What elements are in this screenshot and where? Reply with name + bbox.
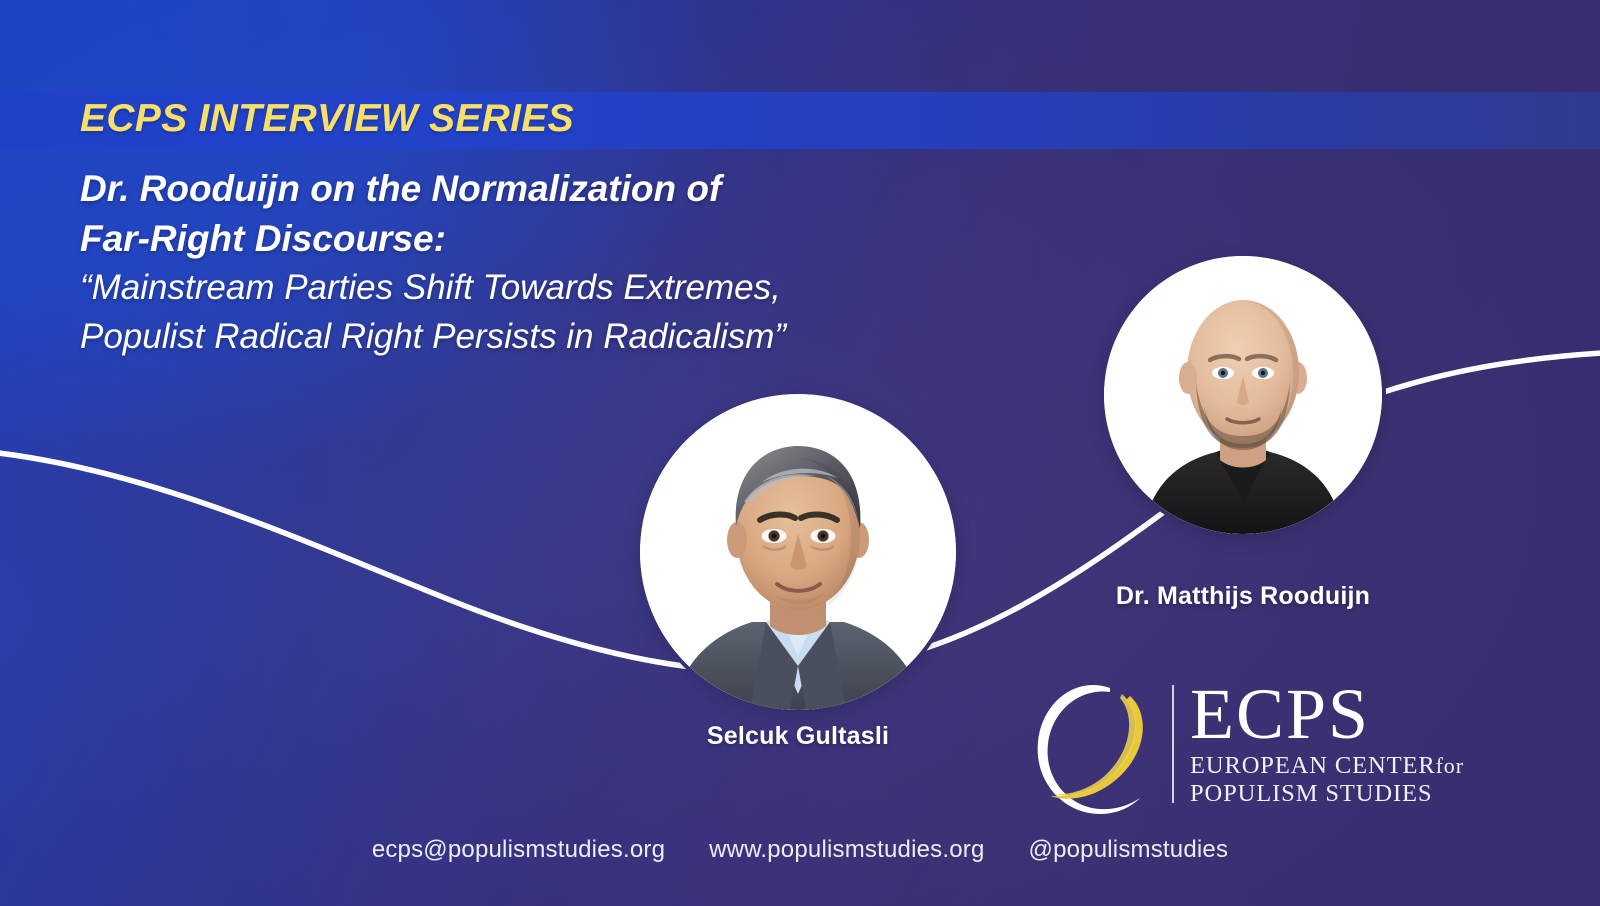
- headline-block: Dr. Rooduijn on the Normalization of Far…: [80, 164, 960, 264]
- headline-line-1: Dr. Rooduijn on the Normalization of: [80, 164, 960, 214]
- subheadline-line-2: Populist Radical Right Persists in Radic…: [80, 312, 1030, 361]
- ecps-interview-poster: ECPS INTERVIEW SERIES Dr. Rooduijn on th…: [0, 0, 1600, 906]
- footer-social-handle[interactable]: @populismstudies: [1029, 836, 1229, 864]
- logo-tagline-line-1: EUROPEAN CENTERfor: [1190, 752, 1464, 779]
- headline-line-2: Far-Right Discourse:: [80, 214, 960, 264]
- logo-tagline: EUROPEAN CENTERfor POPULISM STUDIES: [1190, 752, 1464, 807]
- footer-email[interactable]: ecps@populismstudies.org: [372, 836, 665, 864]
- name-label-rooduijn: Dr. Matthijs Rooduijn: [1104, 582, 1382, 611]
- portrait-gultasli-illustration: [640, 394, 956, 710]
- portrait-rooduijn: [1104, 256, 1382, 534]
- subheadline-line-1: “Mainstream Parties Shift Towards Extrem…: [80, 263, 1030, 312]
- portrait-gultasli: [640, 394, 956, 710]
- logo-tagline-caps-1: EUROPEAN CENTER: [1190, 752, 1436, 779]
- footer-contact-row: ecps@populismstudies.org www.populismstu…: [0, 836, 1600, 864]
- portrait-rooduijn-illustration: [1104, 256, 1382, 534]
- logo-acronym: ECPS: [1190, 681, 1464, 749]
- ecps-logo: ECPS EUROPEAN CENTERfor POPULISM STUDIES: [1018, 663, 1518, 825]
- logo-text-block: ECPS EUROPEAN CENTERfor POPULISM STUDIES: [1190, 681, 1464, 808]
- logo-tagline-for: for: [1436, 753, 1464, 778]
- name-label-gultasli: Selcuk Gultasli: [640, 722, 956, 751]
- footer-website[interactable]: www.populismstudies.org: [709, 836, 984, 864]
- logo-divider: [1172, 685, 1174, 803]
- logo-tagline-line-2: POPULISM STUDIES: [1190, 780, 1464, 807]
- series-eyebrow-label: ECPS INTERVIEW SERIES: [80, 97, 574, 141]
- q-swoosh-logo-icon: [1018, 664, 1168, 824]
- subheadline-quote-block: “Mainstream Parties Shift Towards Extrem…: [80, 263, 1030, 361]
